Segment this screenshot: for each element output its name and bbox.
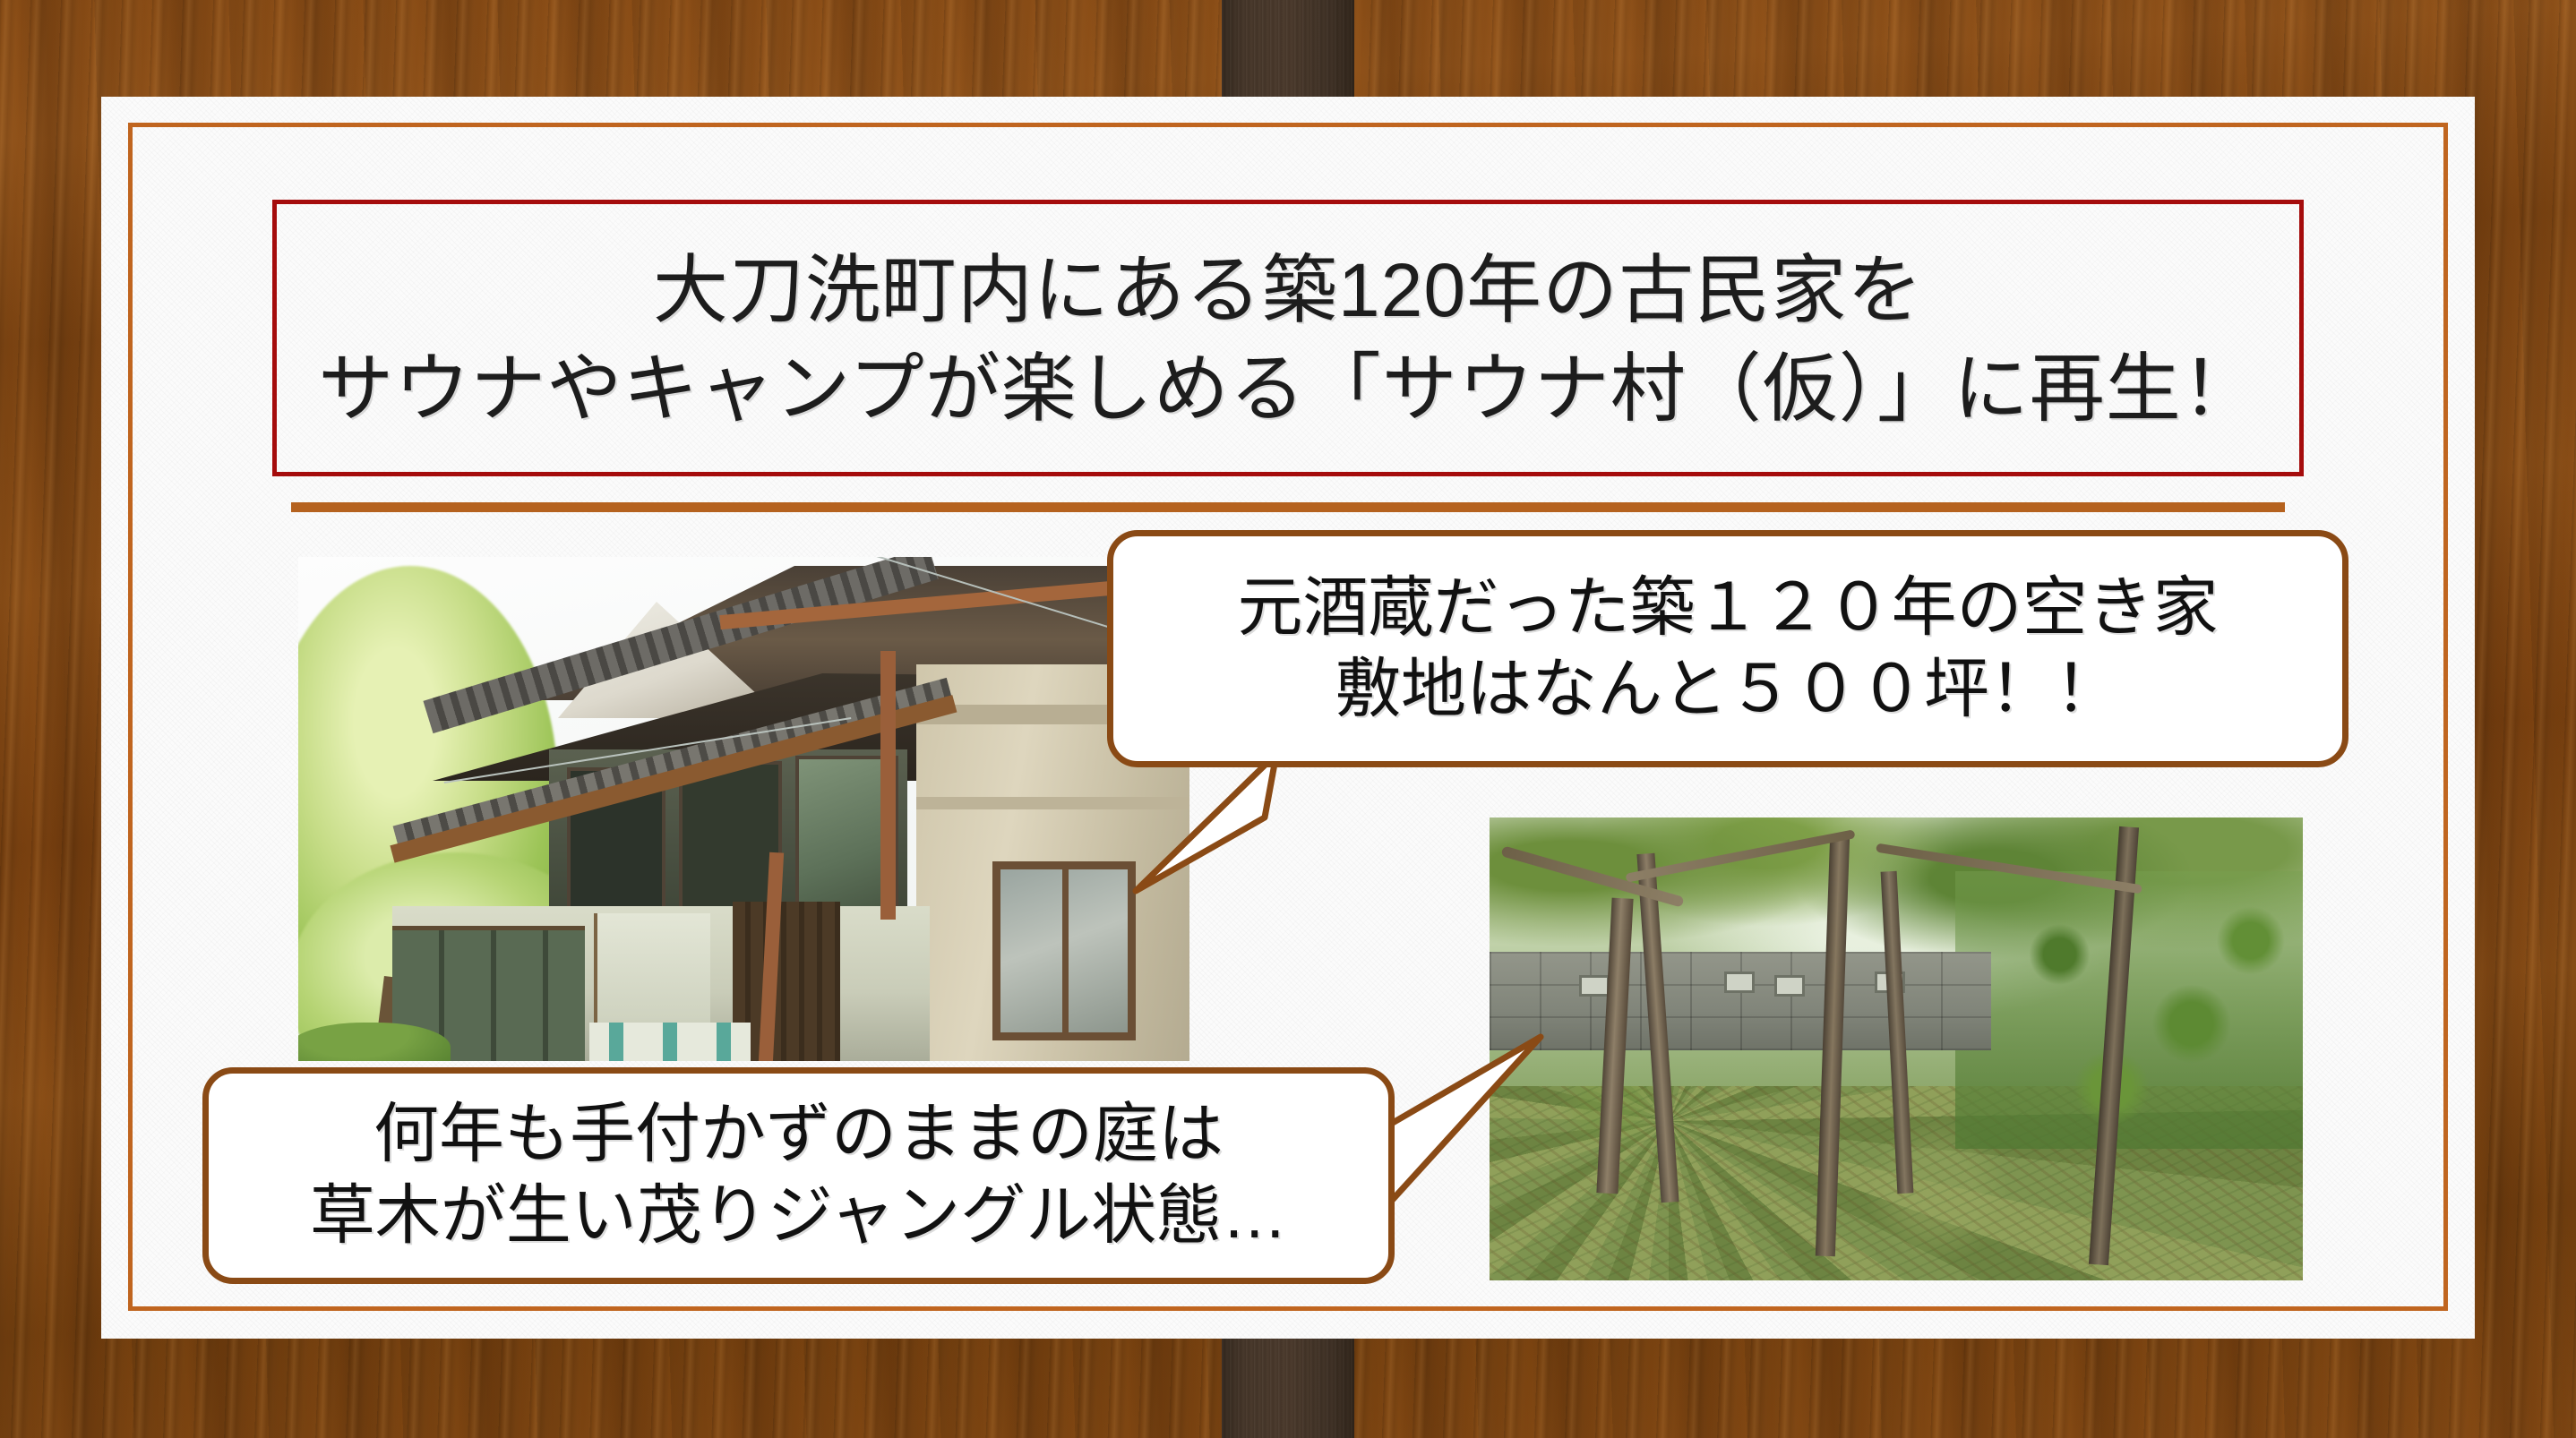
house-stone-band (916, 797, 1189, 809)
bubble-garden-line-1: 何年も手付かずのままの庭は (374, 1094, 1224, 1176)
slide-root: 大刀洗町内にある築120年の古民家を サウナやキャンプが楽しめる「サウナ村（仮）… (0, 0, 2576, 1438)
garden-wall-vent-3 (1774, 975, 1805, 997)
speech-bubble-garden: 何年も手付かずのままの庭は 草木が生い茂りジャングル状態… (202, 1067, 1395, 1284)
section-divider (291, 502, 2285, 512)
house-downpipe-main (880, 651, 896, 920)
title-line-2: サウナやキャンプが楽しめる「サウナ村（仮）」に再生！ (318, 340, 2257, 438)
title-box: 大刀洗町内にある築120年の古民家を サウナやキャンプが楽しめる「サウナ村（仮）… (272, 200, 2304, 476)
garden-wall-vent-1 (1579, 975, 1610, 997)
speech-bubble-house: 元酒蔵だった築１２０年の空き家 敷地はなんと５００坪！！ (1107, 530, 2348, 767)
house-tile-frieze (589, 1023, 751, 1061)
house-wing-window-mullion (1062, 861, 1069, 1040)
garden-block-wall (1490, 952, 1991, 1050)
bubble-garden-line-2: 草木が生い茂りジャングル状態… (310, 1176, 1287, 1257)
bubble-house-line-1: 元酒蔵だった築１２０年の空き家 (1238, 568, 2219, 649)
photo-overgrown-garden (1490, 817, 2303, 1280)
bubble-house-line-2: 敷地はなんと５００坪！！ (1335, 649, 2120, 731)
photo-old-house (298, 557, 1189, 1061)
title-line-1: 大刀洗町内にある築120年の古民家を (653, 242, 1923, 339)
garden-wall-vent-2 (1724, 972, 1755, 993)
